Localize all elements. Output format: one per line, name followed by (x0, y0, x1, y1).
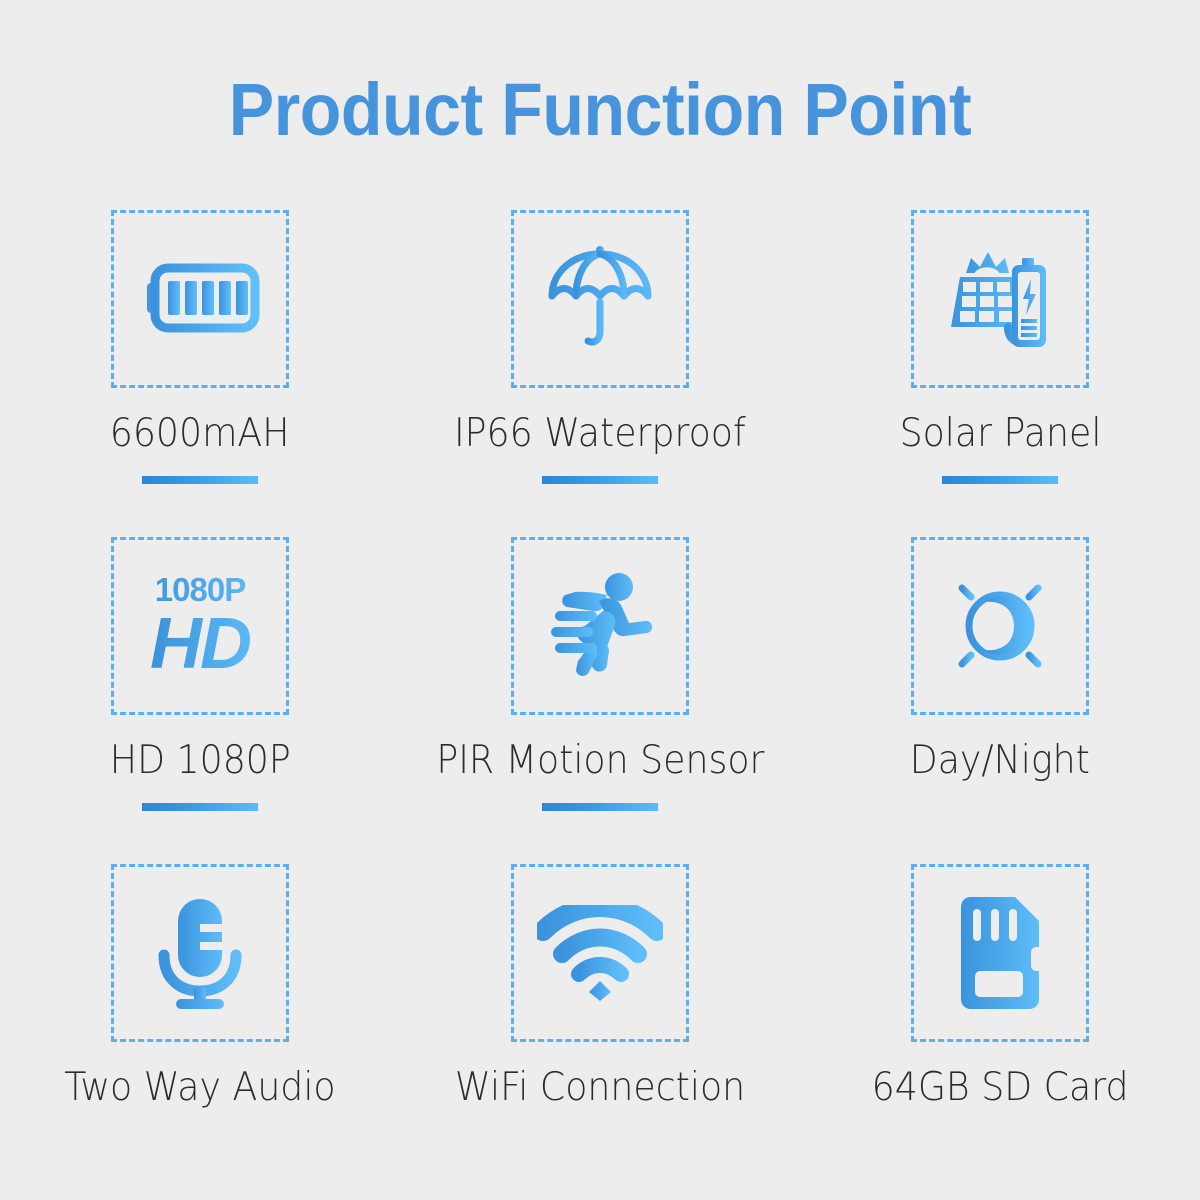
feature-label: Solar Panel (899, 408, 1101, 460)
feature-cell-battery[interactable]: 6600mAH (0, 210, 400, 537)
icon-box (111, 864, 289, 1042)
feature-row: 1080P HD HD 1080P (0, 537, 1200, 864)
icon-box (911, 537, 1089, 715)
hd-1080p-icon: 1080P HD (125, 573, 275, 680)
feature-row: 6600mAH (0, 210, 1200, 537)
feature-label: 64GB SD Card (872, 1062, 1129, 1114)
feature-underline (142, 476, 258, 484)
umbrella-icon (540, 239, 660, 359)
feature-cell-motion-sensor[interactable]: PIR Motion Sensor (400, 537, 800, 864)
feature-grid: 6600mAH (0, 210, 1200, 1164)
feature-underline (942, 476, 1058, 484)
feature-cell-two-way-audio[interactable]: Two Way Audio (0, 864, 400, 1164)
icon-box (911, 864, 1089, 1042)
feature-label: 6600mAH (110, 408, 290, 460)
feature-cell-hd[interactable]: 1080P HD HD 1080P (0, 537, 400, 864)
running-person-motion-icon (541, 571, 659, 681)
icon-box: 1080P HD (111, 537, 289, 715)
product-feature-page: Product Function Point (0, 0, 1200, 1200)
feature-label: PIR Motion Sensor (436, 735, 764, 787)
hd-badge-main: HD (125, 608, 275, 680)
page-title: Product Function Point (48, 62, 1152, 158)
feature-cell-sd-card[interactable]: 64GB SD Card (800, 864, 1200, 1164)
battery-icon (135, 254, 265, 344)
feature-cell-day-night[interactable]: Day/Night (800, 537, 1200, 864)
feature-label: HD 1080P (110, 735, 291, 787)
feature-underline (542, 803, 658, 811)
icon-box (911, 210, 1089, 388)
icon-box (111, 210, 289, 388)
feature-label: Day/Night (910, 735, 1090, 787)
day-night-sun-moon-icon (942, 568, 1058, 684)
feature-cell-solar-panel[interactable]: Solar Panel (800, 210, 1200, 537)
feature-underline (142, 803, 258, 811)
solar-panel-battery-icon (938, 243, 1062, 355)
wifi-icon (537, 905, 663, 1001)
feature-label: IP66 Waterproof (454, 408, 746, 460)
feature-underline (542, 476, 658, 484)
icon-box (511, 537, 689, 715)
feature-cell-waterproof[interactable]: IP66 Waterproof (400, 210, 800, 537)
feature-label: Two Way Audio (64, 1062, 335, 1114)
microphone-icon (148, 895, 252, 1011)
feature-row: Two Way Audio (0, 864, 1200, 1164)
icon-box (511, 210, 689, 388)
icon-box (511, 864, 689, 1042)
sd-card-icon (953, 897, 1047, 1009)
hd-badge-resolution: 1080P (125, 573, 275, 606)
feature-cell-wifi[interactable]: WiFi Connection (400, 864, 800, 1164)
feature-label: WiFi Connection (455, 1062, 745, 1114)
